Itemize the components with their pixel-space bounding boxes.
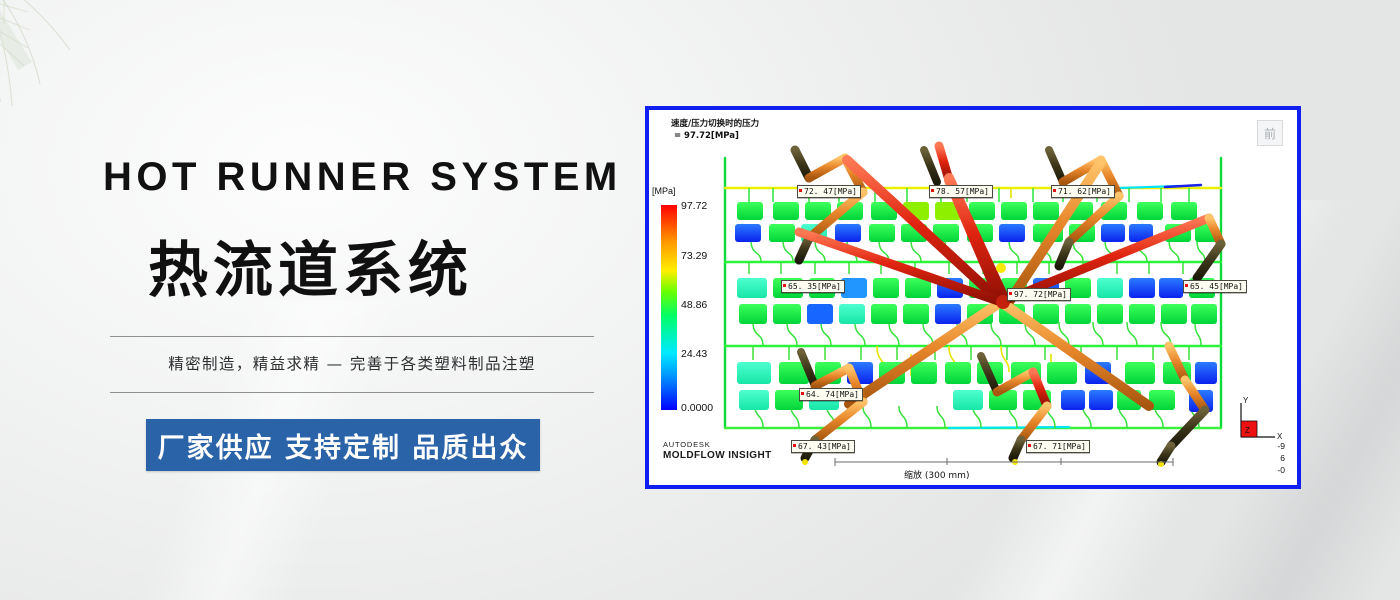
colorbar-gradient: [661, 205, 677, 410]
probe-label[interactable]: 65. 45[MPa]: [1183, 280, 1247, 293]
front-view-button[interactable]: 前: [1257, 120, 1283, 146]
cta-button[interactable]: 厂家供应 支持定制 品质出众: [146, 419, 540, 471]
hot-runner-banner: HOT RUNNER SYSTEM 热流道系统 精密制造，精益求精 — 完善于各…: [0, 0, 1400, 600]
divider-top: [110, 336, 594, 337]
probe-label[interactable]: 97. 72[MPa]: [1007, 288, 1071, 301]
svg-text:Z: Z: [1245, 426, 1250, 435]
autodesk-logo: AUTODESK MOLDFLOW INSIGHT: [663, 440, 772, 461]
colorbar-unit-label: [MPa]: [652, 186, 676, 196]
page-title-chinese: 热流道系统: [148, 222, 568, 309]
svg-text:X: X: [1277, 432, 1283, 441]
colorbar-tick-3: 24.43: [681, 348, 707, 360]
axis-number-2: -0: [1277, 465, 1285, 475]
divider-bottom: [110, 392, 594, 393]
probe-label[interactable]: 78. 57[MPa]: [929, 185, 993, 198]
colorbar-tick-4: 0.0000: [681, 402, 713, 414]
headline-column: HOT RUNNER SYSTEM 热流道系统 精密制造，精益求精 — 完善于各…: [0, 0, 640, 600]
simulation-canvas[interactable]: 速度/压力切换时的压力 = 97.72[MPa] 前 [MPa] 97.72 7…: [649, 110, 1297, 485]
axis-triad: Y X Z -9 6 -0: [1231, 395, 1289, 469]
scale-bar-label: 缩放 (300 mm): [904, 468, 969, 481]
probe-label[interactable]: 64. 74[MPa]: [799, 388, 863, 401]
subtitle-text: 精密制造，精益求精 — 完善于各类塑料制品注塑: [110, 352, 594, 374]
axis-number-0: -9: [1277, 441, 1285, 451]
simulation-title: 速度/压力切换时的压力 = 97.72[MPa]: [671, 118, 759, 142]
autodesk-wordmark: AUTODESK: [663, 440, 772, 449]
probe-label[interactable]: 71. 62[MPa]: [1051, 185, 1115, 198]
probe-label[interactable]: 72. 47[MPa]: [797, 185, 861, 198]
colorbar-tick-0: 97.72: [681, 200, 707, 212]
svg-text:Y: Y: [1243, 396, 1249, 405]
moldflow-simulation-window: 速度/压力切换时的压力 = 97.72[MPa] 前 [MPa] 97.72 7…: [645, 106, 1301, 489]
axis-number-1: 6: [1280, 453, 1285, 463]
probe-label[interactable]: 67. 43[MPa]: [791, 440, 855, 453]
simulation-render: [649, 110, 1297, 485]
probe-label[interactable]: 65. 35[MPa]: [781, 280, 845, 293]
moldflow-wordmark: MOLDFLOW INSIGHT: [663, 450, 772, 461]
probe-label[interactable]: 67. 71[MPa]: [1026, 440, 1090, 453]
colorbar-tick-1: 73.29: [681, 250, 707, 262]
colorbar-tick-2: 48.86: [681, 299, 707, 311]
page-title-english: HOT RUNNER SYSTEM: [103, 155, 603, 200]
